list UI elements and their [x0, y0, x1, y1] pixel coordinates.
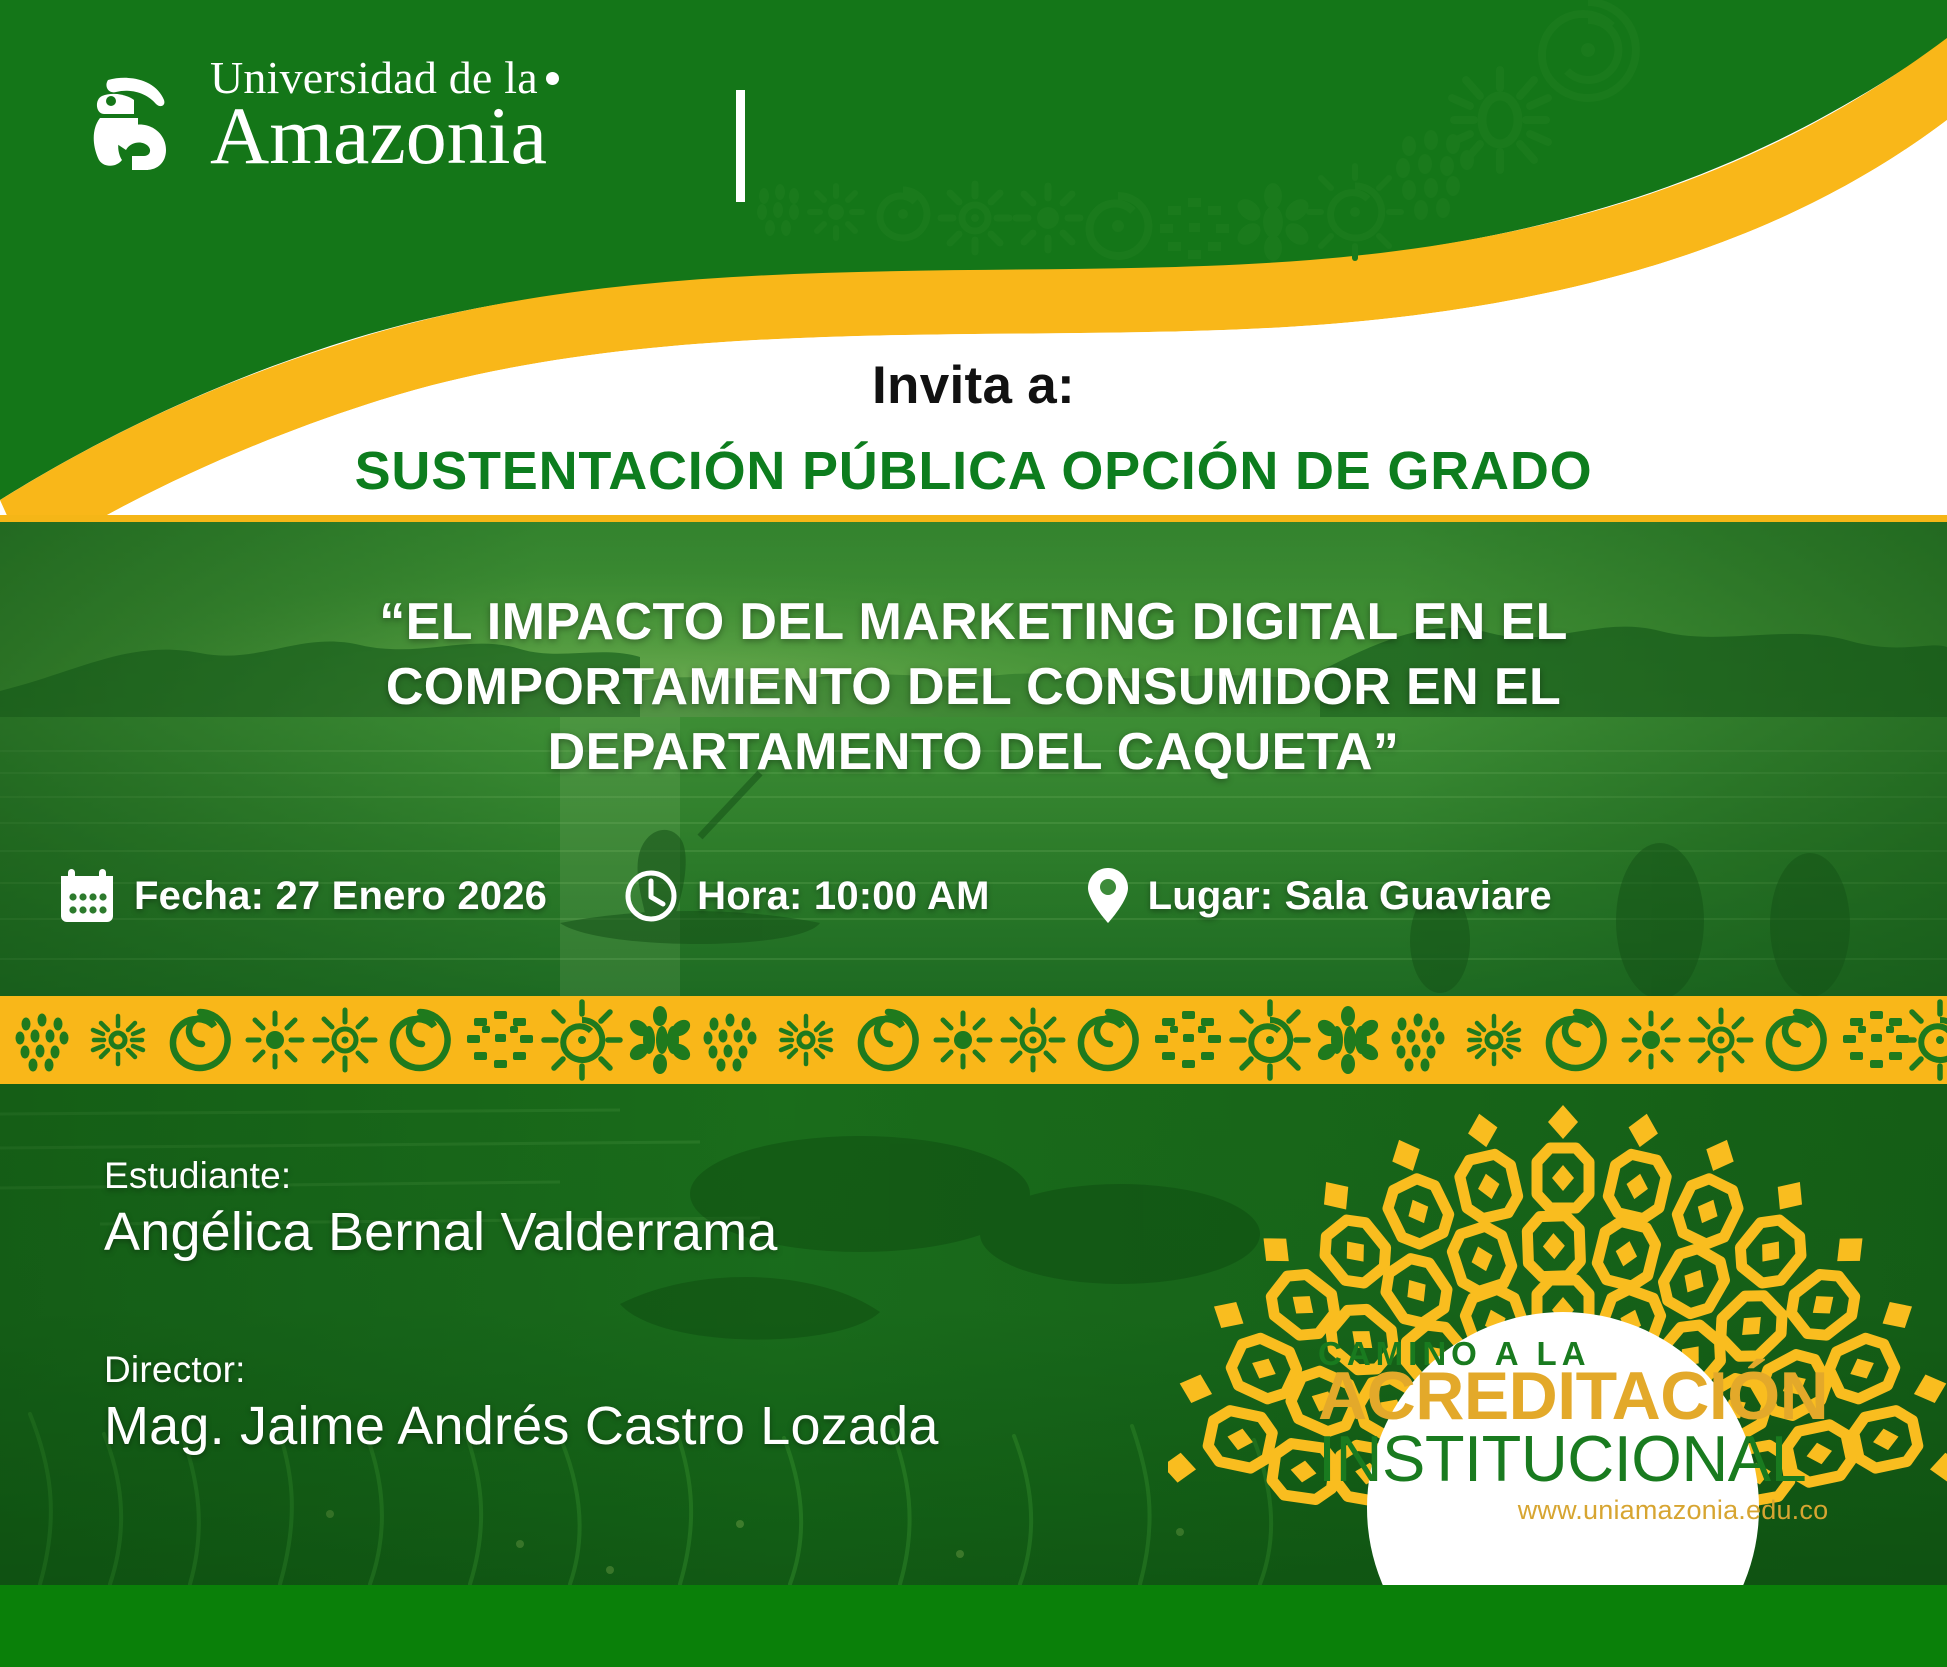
- logo-wordmark: Universidad de la Amazonia: [210, 55, 559, 176]
- university-logo: Universidad de la Amazonia: [78, 40, 778, 180]
- director-block: Director: Mag. Jaime Andrés Castro Lozad…: [104, 1349, 939, 1457]
- accreditation-line-acreditacion: ACREDITACIÓN: [1318, 1364, 1828, 1430]
- event-date: Fecha: 27 Enero 2026: [58, 866, 547, 926]
- calendar-icon: [58, 866, 116, 926]
- accreditation-line-institucional: INSTITUCIONAL: [1318, 1426, 1828, 1491]
- poster-canvas: Universidad de la Amazonia Invita a: SUS…: [0, 0, 1947, 1667]
- invita-label: Invita a:: [0, 355, 1947, 416]
- bottom-green-bar: [0, 1585, 1947, 1667]
- indigenous-pattern-band: [0, 996, 1947, 1084]
- photo-top-rule: [0, 515, 1947, 522]
- clock-icon: [623, 868, 679, 924]
- director-name: Mag. Jaime Andrés Castro Lozada: [104, 1395, 939, 1457]
- participants-block: Estudiante: Angélica Bernal Valderrama D…: [104, 1155, 939, 1457]
- event-place: Lugar: Sala Guaviare: [1086, 866, 1552, 926]
- student-name: Angélica Bernal Valderrama: [104, 1201, 939, 1263]
- map-pin-icon: [1086, 866, 1130, 926]
- thesis-title-line-2: COMPORTAMIENTO DEL CONSUMIDOR EN EL: [230, 655, 1717, 720]
- student-block: Estudiante: Angélica Bernal Valderrama: [104, 1155, 939, 1263]
- event-date-label: Fecha: 27 Enero 2026: [134, 874, 547, 919]
- university-url: www.uniamazonia.edu.co: [1318, 1495, 1828, 1526]
- director-role-label: Director:: [104, 1349, 939, 1391]
- logo-divider-rule: [736, 90, 745, 202]
- thesis-title: “EL IMPACTO DEL MARKETING DIGITAL EN EL …: [0, 590, 1947, 785]
- event-place-label: Lugar: Sala Guaviare: [1148, 874, 1552, 919]
- event-details-row: Fecha: 27 Enero 2026 Hora: 10:00 AM Luga…: [0, 866, 1947, 926]
- student-role-label: Estudiante:: [104, 1155, 939, 1197]
- thesis-title-line-1: “EL IMPACTO DEL MARKETING DIGITAL EN EL: [230, 590, 1717, 655]
- thesis-title-line-3: DEPARTAMENTO DEL CAQUETA”: [230, 720, 1717, 785]
- logo-line-amazonia: Amazonia: [210, 97, 559, 176]
- pattern-band-graphic: [0, 996, 1947, 1084]
- logo-dot: [546, 72, 559, 85]
- event-time: Hora: 10:00 AM: [623, 868, 990, 924]
- toucan-icon: [78, 70, 196, 180]
- accreditation-text-block: CAMINO A LA ACREDITACIÓN INSTITUCIONAL w…: [1318, 1337, 1828, 1526]
- event-type-title: SUSTENTACIÓN PÚBLICA OPCIÓN DE GRADO: [0, 440, 1947, 502]
- event-time-label: Hora: 10:00 AM: [697, 874, 990, 919]
